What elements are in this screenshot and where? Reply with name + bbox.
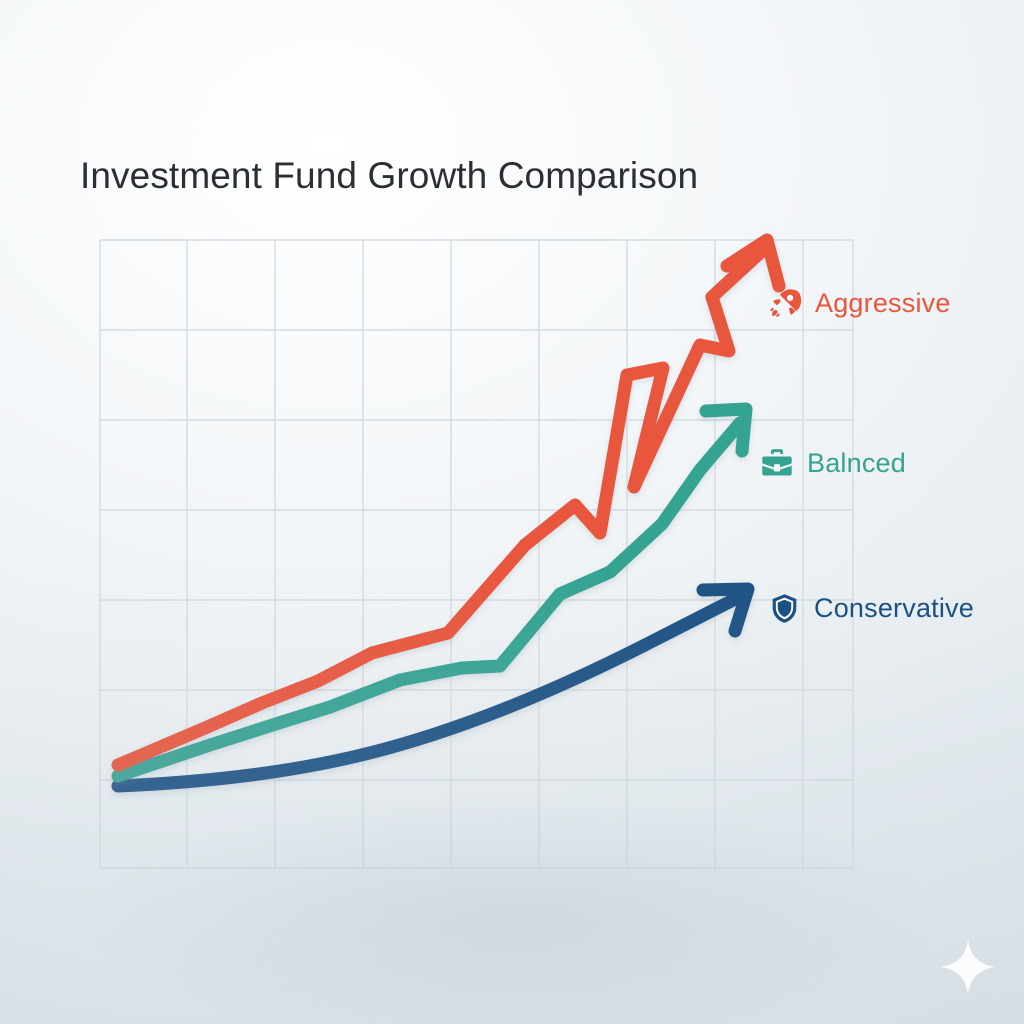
sparkle-icon <box>938 937 998 997</box>
line-chart-plot <box>0 0 1024 1024</box>
briefcase-icon <box>760 446 794 480</box>
legend-label-conservative: Conservative <box>814 593 974 624</box>
shield-icon <box>768 592 801 625</box>
legend-item-balanced[interactable]: Balnced <box>760 446 906 480</box>
legend-item-aggressive[interactable]: Aggressive <box>768 286 951 320</box>
legend-label-aggressive: Aggressive <box>815 288 951 319</box>
rocket-icon <box>768 286 802 320</box>
chart-title: Investment Fund Growth Comparison <box>80 155 698 197</box>
chart-canvas: Investment Fund Growth Comparison Aggres… <box>0 0 1024 1024</box>
series-line-conservative <box>118 589 748 786</box>
legend-label-balanced: Balnced <box>807 448 906 479</box>
legend-item-conservative[interactable]: Conservative <box>768 592 974 625</box>
